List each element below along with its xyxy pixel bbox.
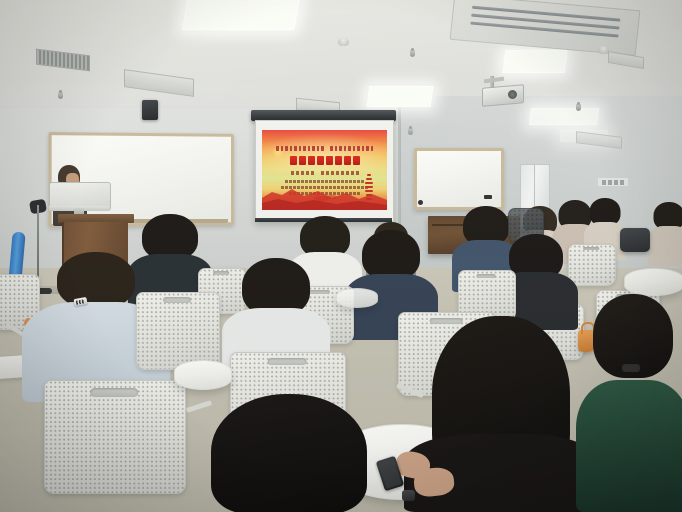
round-table xyxy=(336,288,378,308)
attendee-back-d xyxy=(648,202,682,266)
conference-room-photo xyxy=(0,0,682,512)
smoke-detector xyxy=(338,38,349,46)
sprinkler-head xyxy=(58,92,63,99)
wall-sign-char xyxy=(620,180,624,185)
chair-handle xyxy=(583,247,599,250)
projection-screen xyxy=(251,110,396,226)
mesh-back-chair[interactable] xyxy=(44,380,184,492)
chair-handle xyxy=(476,274,495,278)
slide-title-text xyxy=(280,156,369,165)
ceiling-light-panel xyxy=(529,108,599,125)
attendee-torso xyxy=(576,380,682,512)
sprinkler-head xyxy=(408,128,413,135)
wall-sign xyxy=(598,178,628,186)
whiteboard-marker xyxy=(418,200,423,205)
wall-sign-char xyxy=(608,180,612,185)
chair-handle xyxy=(268,358,307,365)
projector-lens xyxy=(508,90,517,99)
ceiling-projector xyxy=(478,76,524,106)
attendee-foreground-center xyxy=(196,394,382,512)
chair-handle xyxy=(163,297,191,303)
whiteboard-marker xyxy=(484,195,492,199)
attendee-torso xyxy=(648,226,682,266)
smoke-detector xyxy=(598,46,609,54)
slide-header-text xyxy=(276,146,373,151)
round-table xyxy=(174,360,232,390)
attendee-hair xyxy=(57,252,135,308)
ceiling-light-panel xyxy=(503,50,568,73)
attendee-right-green xyxy=(576,294,682,512)
screen-surface xyxy=(255,120,394,222)
ceiling-light-panel xyxy=(182,0,302,30)
smartwatch xyxy=(402,490,415,501)
eyeglasses xyxy=(622,364,640,372)
backpack xyxy=(620,228,650,252)
wall-sign-char xyxy=(614,180,618,185)
chair-back xyxy=(136,292,220,370)
whiteboard-right xyxy=(414,148,504,210)
sprinkler-head xyxy=(576,104,581,111)
imac-desktop xyxy=(49,182,109,216)
chair-back xyxy=(44,380,186,494)
slide-cloud-motif xyxy=(326,195,337,199)
slide-pagoda-motif xyxy=(365,174,373,200)
mesh-back-chair[interactable] xyxy=(136,292,218,368)
attendee-hair xyxy=(362,230,420,280)
round-table xyxy=(624,268,682,296)
projector-body xyxy=(482,84,524,107)
slide-subtitle-text xyxy=(290,171,359,175)
sprinkler-head xyxy=(410,50,415,57)
projector-arm xyxy=(484,77,504,84)
presentation-slide xyxy=(262,130,387,210)
attendee-hair xyxy=(211,394,367,512)
chair-handle xyxy=(90,388,138,397)
ceiling-light-panel xyxy=(367,86,434,107)
wall-sign-char xyxy=(602,180,606,185)
wall-speaker xyxy=(142,100,158,120)
